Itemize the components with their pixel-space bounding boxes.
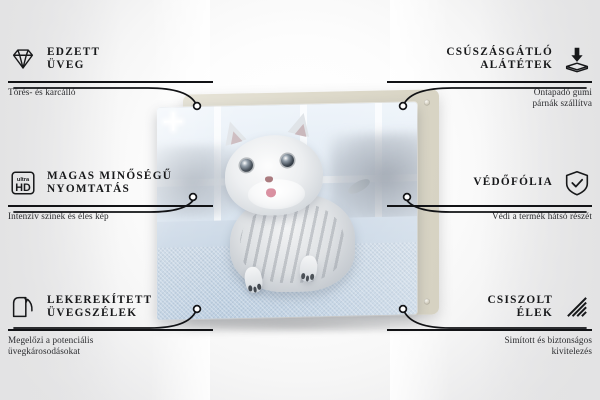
feature-header: ultra HD MAGAS MINŐSÉGŰ NYOMTATÁS — [8, 166, 213, 200]
ultra-hd-icon: ultra HD — [8, 168, 38, 198]
feature-high-quality-print: ultra HD MAGAS MINŐSÉGŰ NYOMTATÁS Intenz… — [8, 166, 213, 222]
feature-subtitle: Törés- és karcálló — [8, 87, 213, 99]
feature-subtitle: Öntapadó gumi párnák szállítva — [387, 87, 592, 110]
feature-title: LEKEREKÍTETT ÜVEGSZÉLEK — [47, 294, 152, 321]
feature-header: LEKEREKÍTETT ÜVEGSZÉLEK — [8, 290, 213, 324]
feature-rounded-glass-edges: LEKEREKÍTETT ÜVEGSZÉLEK Megelőzi a poten… — [8, 290, 213, 358]
feature-header: EDZETT ÜVEG — [8, 42, 213, 76]
feature-header: CSISZOLT ÉLEK — [387, 290, 592, 324]
shield-check-icon — [562, 168, 592, 198]
feature-divider — [8, 329, 213, 331]
diamond-icon — [8, 44, 38, 74]
rounded-corner-icon — [8, 292, 38, 322]
feature-polished-edges: CSISZOLT ÉLEK Simított és biztonságos ki… — [387, 290, 592, 358]
feature-divider — [8, 205, 213, 207]
feature-divider — [8, 81, 213, 83]
feature-title: CSISZOLT ÉLEK — [488, 294, 553, 321]
feature-subtitle: Megelőzi a potenciális üvegkárosodásokat — [8, 335, 213, 358]
feature-title: CSÚSZÁSGÁTLÓ ALÁTÉTEK — [446, 46, 553, 73]
kitten-nose — [265, 176, 273, 182]
feature-divider — [387, 205, 592, 207]
feature-protective-film: VÉDŐFÓLIA Védi a termék hátsó részét — [387, 166, 592, 222]
feature-divider — [387, 329, 592, 331]
feature-divider — [387, 81, 592, 83]
feature-title: EDZETT ÜVEG — [47, 46, 100, 73]
kitten-eye — [281, 154, 294, 167]
infographic-canvas: EDZETT ÜVEG Törés- és karcálló ultra HD … — [0, 0, 600, 400]
svg-text:HD: HD — [15, 182, 31, 194]
feature-title: VÉDŐFÓLIA — [473, 176, 553, 189]
feature-header: CSÚSZÁSGÁTLÓ ALÁTÉTEK — [387, 42, 592, 76]
feature-tempered-glass: EDZETT ÜVEG Törés- és karcálló — [8, 42, 213, 98]
feature-subtitle: Intenzív színek és éles kép — [8, 211, 213, 223]
kitten-tongue — [266, 188, 276, 197]
feature-anti-slip-pads: CSÚSZÁSGÁTLÓ ALÁTÉTEK Öntapadó gumi párn… — [387, 42, 592, 110]
feature-title: MAGAS MINŐSÉGŰ NYOMTATÁS — [47, 170, 172, 197]
hatch-lines-icon — [562, 292, 592, 322]
anti-slip-pad-icon — [562, 44, 592, 74]
feature-header: VÉDŐFÓLIA — [387, 166, 592, 200]
feature-subtitle: Simított és biztonságos kivitelezés — [387, 335, 592, 358]
feature-subtitle: Védi a termék hátsó részét — [387, 211, 592, 223]
